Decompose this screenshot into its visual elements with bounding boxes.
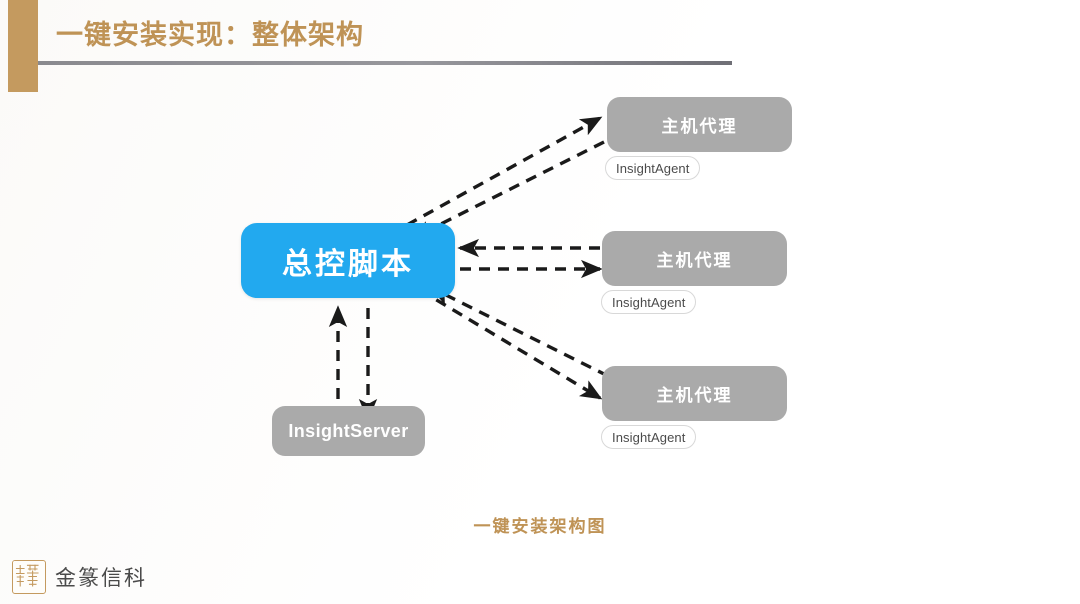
architecture-diagram: 总控脚本 主机代理 InsightAgent 主机代理 InsightAgent… bbox=[0, 80, 1080, 550]
node-main-control-script[interactable]: 总控脚本 bbox=[241, 223, 455, 298]
diagram-connectors bbox=[0, 80, 1080, 550]
header-divider bbox=[38, 61, 732, 65]
page-title: 一键安装实现：整体架构 bbox=[56, 18, 364, 53]
node-main-label: 总控脚本 bbox=[282, 239, 414, 283]
header-accent-bar bbox=[8, 0, 38, 92]
node-agent-1[interactable]: 主机代理 bbox=[607, 97, 792, 152]
node-agent-2-sublabel: InsightAgent bbox=[601, 290, 696, 314]
edge-main-to-agent-1 bbox=[407, 118, 600, 225]
node-agent-2[interactable]: 主机代理 bbox=[602, 231, 787, 286]
diagram-caption: 一键安装架构图 bbox=[0, 512, 1080, 537]
node-insight-server-label: InsightServer bbox=[288, 421, 408, 442]
node-agent-3-sublabel: InsightAgent bbox=[601, 425, 696, 449]
edge-main-to-agent-3 bbox=[420, 290, 600, 398]
footer-logo: 金篆信科 bbox=[12, 560, 147, 594]
node-insight-server[interactable]: InsightServer bbox=[272, 406, 425, 456]
node-agent-3-label: 主机代理 bbox=[657, 381, 733, 406]
node-agent-1-sublabel: InsightAgent bbox=[605, 156, 700, 180]
node-agent-1-label: 主机代理 bbox=[662, 112, 738, 137]
slide-root: 一键安装实现：整体架构 总控脚本 bbox=[0, 0, 1080, 604]
footer-logo-text: 金篆信科 bbox=[55, 562, 147, 592]
seal-logo-icon bbox=[12, 560, 46, 594]
edge-agent-3-to-main bbox=[432, 288, 608, 376]
node-agent-2-label: 主机代理 bbox=[657, 246, 733, 271]
node-agent-3[interactable]: 主机代理 bbox=[602, 366, 787, 421]
